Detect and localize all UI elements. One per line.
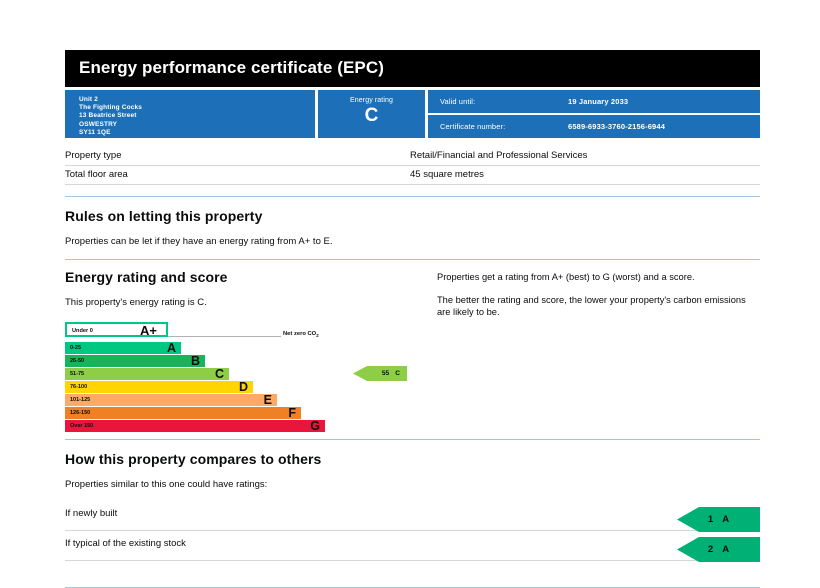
address-line: OSWESTRY	[79, 121, 315, 129]
band-a: 0-25 A	[65, 342, 181, 354]
band-letter-label: D	[239, 380, 248, 394]
energy-rating-value: C	[318, 105, 425, 127]
band-letter-label: C	[215, 367, 224, 381]
section-divider	[65, 439, 760, 440]
existing-stock-band: A	[722, 544, 729, 555]
footer-spacer	[65, 561, 760, 587]
rules-heading: Rules on letting this property	[65, 208, 760, 224]
address-line: SY11 1QE	[79, 129, 315, 137]
table-row: If newly built 1 A	[65, 501, 760, 531]
energy-rating-section: Energy rating and score This property's …	[65, 269, 760, 425]
band-range-label: 101-125	[70, 397, 90, 403]
compares-heading: How this property compares to others	[65, 451, 760, 467]
certificate-details: Valid until: 19 January 2033 Certificate…	[428, 90, 760, 138]
band-range-label: 0-25	[70, 345, 81, 351]
band-range-label: 51-75	[70, 371, 84, 377]
address-line: The Fighting Cocks	[79, 104, 315, 112]
band-range-label: Over 150	[70, 423, 93, 429]
band-letter-label: A+	[140, 323, 157, 338]
energy-rating-chart: Under 0 A+ Net zero CO2 0-25 A 26-50 B 5…	[65, 322, 437, 425]
band-range-label: 26-50	[70, 358, 84, 364]
compares-table: If newly built 1 A If typical of the exi…	[65, 501, 760, 561]
band-e: 101-125 E	[65, 394, 277, 406]
existing-stock-rating-arrow: 2 A	[677, 537, 760, 562]
current-score-value: 55	[382, 370, 389, 377]
compares-intro: Properties similar to this one could hav…	[65, 478, 760, 491]
energy-rating-aside-2: The better the rating and score, the low…	[437, 294, 760, 318]
section-divider	[65, 196, 760, 197]
band-a-plus: Under 0 A+	[65, 322, 168, 337]
energy-rating-label: Energy rating	[318, 97, 425, 104]
header-strip: Unit 2 The Fighting Cocks 13 Beatrice St…	[65, 90, 760, 138]
valid-until-value: 19 January 2033	[568, 97, 628, 106]
newly-built-label: If newly built	[65, 508, 117, 519]
table-row: Total floor area 45 square metres	[65, 166, 760, 185]
floor-area-label: Total floor area	[65, 169, 410, 180]
band-letter-label: G	[310, 419, 320, 433]
certificate-number-label: Certificate number:	[440, 122, 568, 131]
band-letter-label: B	[191, 354, 200, 368]
property-type-label: Property type	[65, 150, 410, 161]
band-range-label: 126-150	[70, 410, 90, 416]
property-details-table: Property type Retail/Financial and Profe…	[65, 147, 760, 185]
existing-stock-label: If typical of the existing stock	[65, 538, 186, 549]
address-line: Unit 2	[79, 96, 315, 104]
band-range-label: 76-100	[70, 384, 87, 390]
band-d: 76-100 D	[65, 381, 253, 393]
band-letter-label: F	[288, 406, 296, 420]
energy-rating-aside-1: Properties get a rating from A+ (best) t…	[437, 271, 760, 283]
current-score-arrow: 55 C	[353, 366, 407, 381]
page-title: Energy performance certificate (EPC)	[65, 50, 760, 87]
epc-document: Energy performance certificate (EPC) Uni…	[65, 50, 760, 588]
newly-built-band: A	[722, 514, 729, 525]
band-range-label: Under 0	[72, 328, 93, 334]
energy-rating-badge: Energy rating C	[318, 90, 425, 138]
band-letter-label: A	[167, 341, 176, 355]
energy-rating-left-column: Energy rating and score This property's …	[65, 269, 437, 425]
net-zero-label: Net zero CO2	[283, 331, 319, 338]
table-row: Property type Retail/Financial and Profe…	[65, 147, 760, 166]
table-row: If typical of the existing stock 2 A	[65, 531, 760, 561]
address-line: 13 Beatrice Street	[79, 112, 315, 120]
valid-until-label: Valid until:	[440, 97, 568, 106]
certificate-number-value: 6589-6933-3760-2156-6944	[568, 122, 665, 131]
certificate-number-row: Certificate number: 6589-6933-3760-2156-…	[428, 113, 760, 138]
energy-rating-heading: Energy rating and score	[65, 269, 437, 285]
energy-rating-intro: This property's energy rating is C.	[65, 296, 437, 309]
band-letter-label: E	[264, 393, 272, 407]
newly-built-rating-arrow: 1 A	[677, 507, 760, 532]
energy-rating-right-column: Properties get a rating from A+ (best) t…	[437, 269, 760, 425]
band-c: 51-75 C	[65, 368, 229, 380]
net-zero-line	[168, 336, 281, 337]
newly-built-score: 1	[708, 514, 713, 525]
property-type-value: Retail/Financial and Professional Servic…	[410, 150, 587, 161]
existing-stock-score: 2	[708, 544, 713, 555]
section-divider	[65, 259, 760, 260]
band-g: Over 150 G	[65, 420, 325, 432]
band-f: 126-150 F	[65, 407, 301, 419]
floor-area-value: 45 square metres	[410, 169, 484, 180]
valid-until-row: Valid until: 19 January 2033	[428, 90, 760, 113]
current-score-band: C	[395, 370, 400, 377]
band-b: 26-50 B	[65, 355, 205, 367]
property-address: Unit 2 The Fighting Cocks 13 Beatrice St…	[65, 90, 315, 138]
rules-body: Properties can be let if they have an en…	[65, 235, 760, 248]
